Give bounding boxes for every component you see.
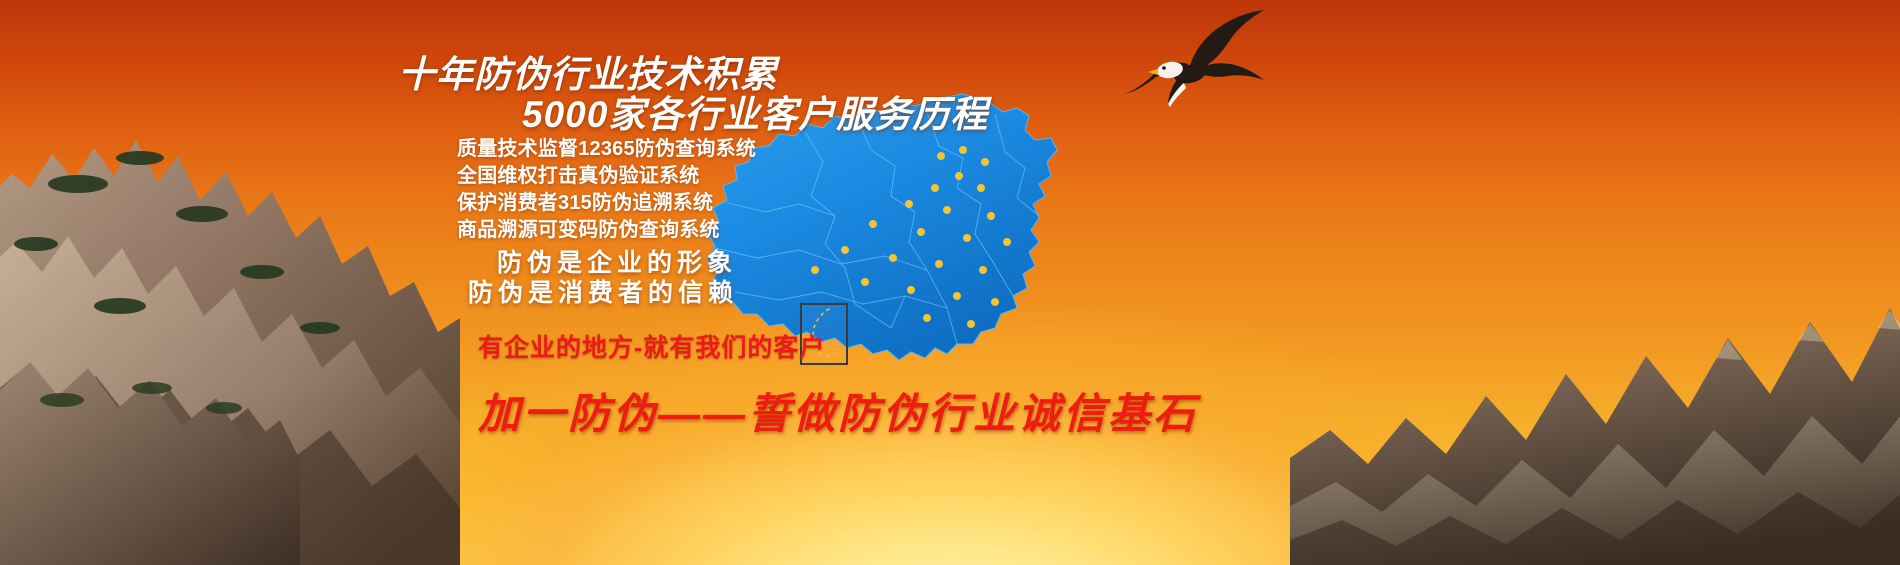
feature-line-4: 商品溯源可变码防伪查询系统 (457, 213, 720, 242)
footer-slogan: 加一防伪——誓做防伪行业诚信基石 (478, 380, 1198, 441)
tagline: 有企业的地方-就有我们的客户 (478, 328, 825, 364)
headline-secondary: 5000家各行业客户服务历程 (522, 84, 988, 138)
feature-line-3: 保护消费者315防伪追溯系统 (457, 186, 713, 215)
promo-banner: 十年防伪行业技术积累 5000家各行业客户服务历程 质量技术监督12365防伪查… (0, 0, 1900, 565)
bald-eagle (1090, 8, 1290, 128)
slogan-line-2: 防伪是消费者的信赖 (468, 273, 738, 309)
feature-line-1: 质量技术监督12365防伪查询系统 (457, 132, 756, 161)
feature-line-2: 全国维权打击真伪验证系统 (457, 159, 699, 188)
